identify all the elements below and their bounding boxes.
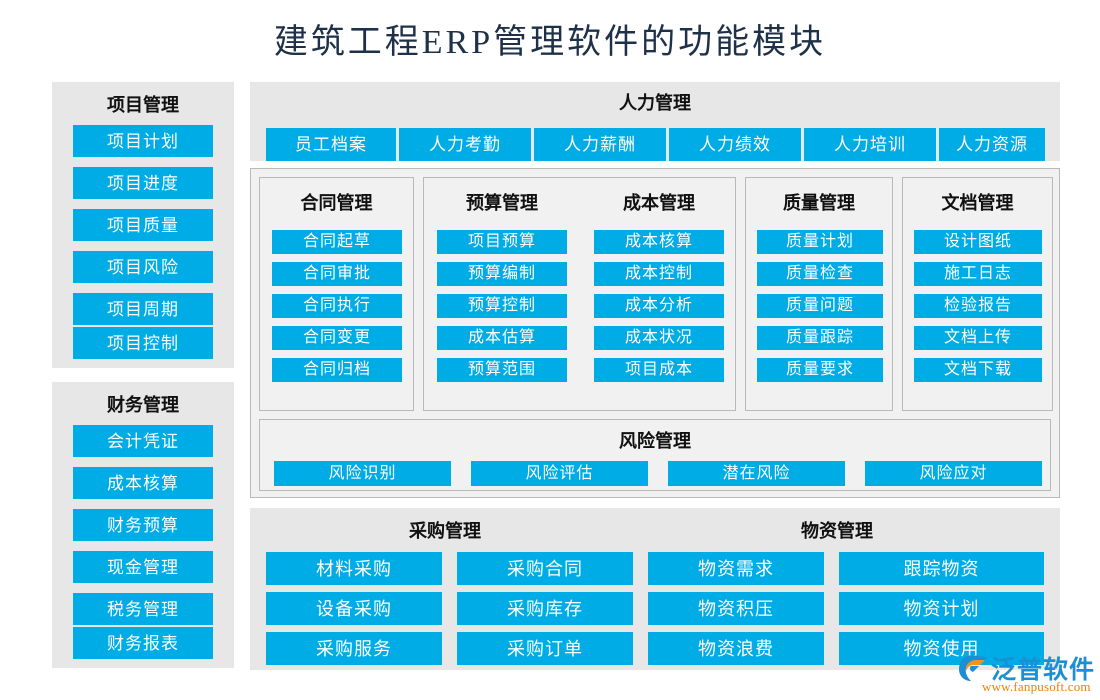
document-item-design-drawing[interactable]: 设计图纸 xyxy=(914,230,1042,254)
section-project-management: 项目管理 项目计划 项目进度 项目质量 项目风险 项目周期 项目控制 xyxy=(52,82,234,368)
quality-item-required[interactable]: 质量要求 xyxy=(757,358,883,382)
quality-item-inspect[interactable]: 质量检查 xyxy=(757,262,883,286)
quality-item-issue[interactable]: 质量问题 xyxy=(757,294,883,318)
contract-item-archive[interactable]: 合同归档 xyxy=(272,358,402,382)
quality-item-plan[interactable]: 质量计划 xyxy=(757,230,883,254)
section-title-budget-management: 预算管理 xyxy=(424,194,580,212)
contract-item-draft[interactable]: 合同起草 xyxy=(272,230,402,254)
cost-item-project-cost[interactable]: 项目成本 xyxy=(594,358,724,382)
purchase-item-equipment[interactable]: 设备采购 xyxy=(266,592,442,625)
material-item-waste[interactable]: 物资浪费 xyxy=(648,632,824,665)
sidebar-item-project-cycle[interactable]: 项目周期 xyxy=(73,293,213,325)
document-item-test-report[interactable]: 检验报告 xyxy=(914,294,1042,318)
risk-item-assess[interactable]: 风险评估 xyxy=(471,461,648,486)
budget-item-project-budget[interactable]: 项目预算 xyxy=(437,230,567,254)
section-title-cost-management: 成本管理 xyxy=(581,194,737,212)
section-purchase-material-container: 采购管理 物资管理 材料采购 采购合同 设备采购 采购库存 采购服务 采购订单 … xyxy=(250,508,1060,670)
sidebar-item-accounting-voucher[interactable]: 会计凭证 xyxy=(73,425,213,457)
hr-item-salary[interactable]: 人力薪酬 xyxy=(534,128,666,161)
purchase-item-inventory[interactable]: 采购库存 xyxy=(457,592,633,625)
hr-item-attendance[interactable]: 人力考勤 xyxy=(399,128,531,161)
sidebar-item-project-control[interactable]: 项目控制 xyxy=(73,327,213,359)
sidebar-item-finance-budget[interactable]: 财务预算 xyxy=(73,509,213,541)
cost-item-analysis[interactable]: 成本分析 xyxy=(594,294,724,318)
hr-item-performance[interactable]: 人力绩效 xyxy=(669,128,801,161)
budget-item-scope[interactable]: 预算范围 xyxy=(437,358,567,382)
sidebar-item-project-quality[interactable]: 项目质量 xyxy=(73,209,213,241)
section-title-finance-management: 财务管理 xyxy=(52,396,234,414)
purchase-item-service[interactable]: 采购服务 xyxy=(266,632,442,665)
contract-item-execute[interactable]: 合同执行 xyxy=(272,294,402,318)
section-title-document-management: 文档管理 xyxy=(903,194,1052,212)
purchase-item-material-purchase[interactable]: 材料采购 xyxy=(266,552,442,585)
material-item-plan[interactable]: 物资计划 xyxy=(839,592,1044,625)
watermark-url: www.fanpusoft.com xyxy=(982,679,1091,695)
section-hr-management: 人力管理 员工档案 人力考勤 人力薪酬 人力绩效 人力培训 人力资源 xyxy=(250,82,1060,161)
sidebar-item-project-plan[interactable]: 项目计划 xyxy=(73,125,213,157)
budget-item-cost-estimate[interactable]: 成本估算 xyxy=(437,326,567,350)
section-title-hr-management: 人力管理 xyxy=(250,94,1060,112)
section-title-risk-management: 风险管理 xyxy=(260,432,1050,450)
document-item-upload[interactable]: 文档上传 xyxy=(914,326,1042,350)
contract-item-change[interactable]: 合同变更 xyxy=(272,326,402,350)
section-core-modules-container: 合同管理 合同起草 合同审批 合同执行 合同变更 合同归档 预算管理 成本管理 … xyxy=(250,168,1060,498)
sidebar-item-finance-report[interactable]: 财务报表 xyxy=(73,627,213,659)
section-title-quality-management: 质量管理 xyxy=(746,194,892,212)
sidebar-item-cost-accounting[interactable]: 成本核算 xyxy=(73,467,213,499)
sidebar-item-cash-management[interactable]: 现金管理 xyxy=(73,551,213,583)
quality-item-tracking[interactable]: 质量跟踪 xyxy=(757,326,883,350)
material-item-overstock[interactable]: 物资积压 xyxy=(648,592,824,625)
section-title-material-management: 物资管理 xyxy=(642,522,1032,540)
watermark-logo: 泛普软件 www.fanpusoft.com xyxy=(958,650,1098,696)
budget-item-preparation[interactable]: 预算编制 xyxy=(437,262,567,286)
section-contract-management: 合同管理 合同起草 合同审批 合同执行 合同变更 合同归档 xyxy=(259,177,414,411)
cost-item-control[interactable]: 成本控制 xyxy=(594,262,724,286)
risk-item-potential[interactable]: 潜在风险 xyxy=(668,461,845,486)
hr-item-employee-file[interactable]: 员工档案 xyxy=(266,128,396,161)
sidebar-item-tax-management[interactable]: 税务管理 xyxy=(73,593,213,625)
cost-item-status[interactable]: 成本状况 xyxy=(594,326,724,350)
section-finance-management: 财务管理 会计凭证 成本核算 财务预算 现金管理 税务管理 财务报表 xyxy=(52,382,234,668)
risk-item-response[interactable]: 风险应对 xyxy=(865,461,1042,486)
material-item-demand[interactable]: 物资需求 xyxy=(648,552,824,585)
swoosh-logo-icon xyxy=(958,654,988,682)
section-title-purchase-management: 采购管理 xyxy=(250,522,640,540)
document-item-work-log[interactable]: 施工日志 xyxy=(914,262,1042,286)
sidebar-item-project-risk[interactable]: 项目风险 xyxy=(73,251,213,283)
sidebar-item-project-progress[interactable]: 项目进度 xyxy=(73,167,213,199)
section-risk-management: 风险管理 风险识别 风险评估 潜在风险 风险应对 xyxy=(259,419,1051,491)
section-title-contract-management: 合同管理 xyxy=(260,194,413,212)
section-title-project-management: 项目管理 xyxy=(52,96,234,114)
document-item-download[interactable]: 文档下载 xyxy=(914,358,1042,382)
contract-item-approval[interactable]: 合同审批 xyxy=(272,262,402,286)
budget-item-control[interactable]: 预算控制 xyxy=(437,294,567,318)
section-budget-cost-management: 预算管理 成本管理 项目预算 预算编制 预算控制 成本估算 预算范围 成本核算 … xyxy=(423,177,736,411)
material-item-tracking[interactable]: 跟踪物资 xyxy=(839,552,1044,585)
page-title: 建筑工程ERP管理软件的功能模块 xyxy=(0,14,1100,63)
section-quality-management: 质量管理 质量计划 质量检查 质量问题 质量跟踪 质量要求 xyxy=(745,177,893,411)
hr-item-human-resource[interactable]: 人力资源 xyxy=(939,128,1045,161)
risk-item-identify[interactable]: 风险识别 xyxy=(274,461,451,486)
hr-item-training[interactable]: 人力培训 xyxy=(804,128,936,161)
purchase-item-contract[interactable]: 采购合同 xyxy=(457,552,633,585)
cost-item-accounting[interactable]: 成本核算 xyxy=(594,230,724,254)
purchase-item-order[interactable]: 采购订单 xyxy=(457,632,633,665)
section-document-management: 文档管理 设计图纸 施工日志 检验报告 文档上传 文档下载 xyxy=(902,177,1053,411)
